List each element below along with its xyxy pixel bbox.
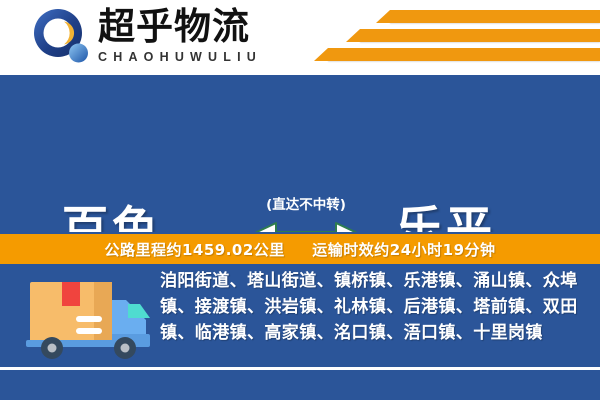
delivery-truck-icon xyxy=(24,274,152,360)
banner-header: 超乎物流 CHAOHUWULIU xyxy=(0,0,600,72)
logistics-route-banner: 超乎物流 CHAOHUWULIU 百色 (直达不中转) 【往返运输】 乐平 公路… xyxy=(0,0,600,400)
stripe-3 xyxy=(328,48,600,61)
brand-block: 超乎物流 CHAOHUWULIU xyxy=(98,7,262,65)
info-bar-content: 公路里程约1459.02公里 运输时效约24小时19分钟 xyxy=(104,239,495,260)
brand-name-cn: 超乎物流 xyxy=(98,7,262,47)
brand-name-en: CHAOHUWULIU xyxy=(98,50,262,65)
route-info-bar: 公路里程约1459.02公里 运输时效约24小时19分钟 xyxy=(0,232,600,266)
distance-label: 公路里程约1459.02公里 xyxy=(104,241,284,259)
coverage-town-list: 洎阳街道、塔山街道、镇桥镇、乐港镇、涌山镇、众埠镇、接渡镇、洪岩镇、礼林镇、后港… xyxy=(160,268,588,346)
route-panel: 百色 (直达不中转) 【往返运输】 乐平 xyxy=(0,75,600,228)
duration-label: 运输时效约24小时19分钟 xyxy=(312,241,495,259)
speed-stripes-icon xyxy=(310,6,600,68)
footer-divider xyxy=(0,367,600,370)
stripe-1 xyxy=(390,10,600,23)
company-logo-icon xyxy=(33,8,91,66)
direct-route-note: (直达不中转) xyxy=(236,193,376,213)
coverage-panel: 洎阳街道、塔山街道、镇桥镇、乐港镇、涌山镇、众埠镇、接渡镇、洪岩镇、礼林镇、后港… xyxy=(0,264,600,400)
stripe-2 xyxy=(360,29,600,42)
